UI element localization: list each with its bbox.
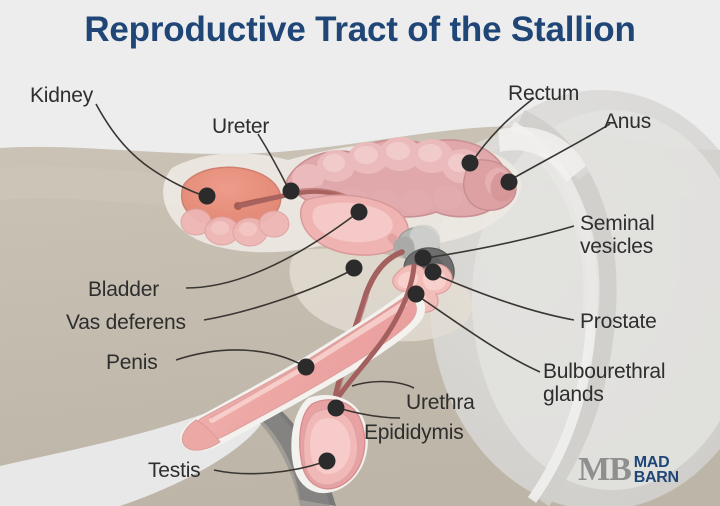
- label-penis: Penis: [106, 351, 158, 374]
- label-epididymis: Epididymis: [364, 421, 464, 444]
- label-rectum: Rectum: [508, 82, 579, 105]
- dot-kidney: [199, 188, 216, 205]
- logo-monogram: MB: [578, 453, 631, 487]
- dot-anus: [501, 174, 518, 191]
- dot-epididymis: [328, 400, 345, 417]
- dot-testis: [319, 453, 336, 470]
- dot-vas-deferens: [346, 260, 363, 277]
- logo-wordmark-line2: BARN: [634, 469, 679, 486]
- dot-ureter: [283, 183, 300, 200]
- label-urethra: Urethra: [406, 391, 475, 414]
- dot-seminal-vesicles: [415, 250, 432, 267]
- dot-prostate: [425, 264, 442, 281]
- label-bulbourethral-glands: Bulbourethral glands: [543, 360, 665, 406]
- dot-rectum: [462, 155, 479, 172]
- logo-wordmark: MAD BARN: [634, 455, 679, 485]
- label-anus: Anus: [604, 110, 651, 133]
- label-bladder: Bladder: [88, 278, 159, 301]
- label-prostate: Prostate: [580, 310, 657, 333]
- page-title: Reproductive Tract of the Stallion: [0, 8, 720, 52]
- stallion-anatomy-diagram: Reproductive Tract of the Stallion Kidne…: [0, 0, 720, 506]
- dot-bladder: [351, 204, 368, 221]
- label-testis: Testis: [148, 459, 200, 482]
- label-ureter: Ureter: [212, 115, 269, 138]
- mad-barn-logo[interactable]: MB MAD BARN: [578, 452, 679, 488]
- label-kidney: Kidney: [30, 84, 93, 107]
- dot-bulbourethral: [408, 286, 425, 303]
- dot-penis: [298, 359, 315, 376]
- label-vas-deferens: Vas deferens: [66, 311, 186, 334]
- label-seminal-vesicles: Seminal vesicles: [580, 212, 654, 258]
